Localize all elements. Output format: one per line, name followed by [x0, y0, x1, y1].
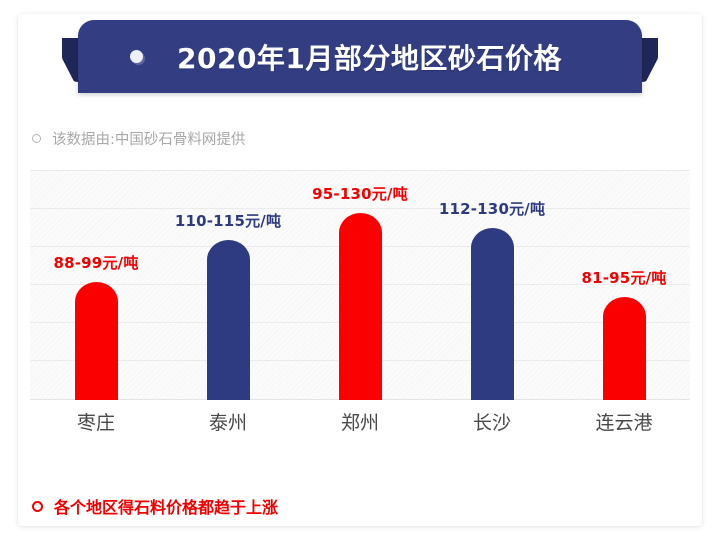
bar-group-0: 88-99元/吨	[30, 170, 162, 400]
bar[interactable]	[339, 213, 382, 400]
footer-note-text: 各个地区得石料价格都趋于上涨	[54, 494, 278, 518]
bar-group-3: 112-130元/吨	[426, 170, 558, 400]
footer-note: 各个地区得石料价格都趋于上涨	[32, 494, 278, 518]
bar-value-label: 88-99元/吨	[53, 252, 138, 273]
bar-value-label: 95-130元/吨	[312, 183, 408, 204]
x-tick-label: 泰州	[162, 408, 294, 435]
bar-value-label: 112-130元/吨	[439, 198, 545, 219]
x-tick-label: 郑州	[294, 408, 426, 435]
x-tick-label: 长沙	[426, 408, 558, 435]
hollow-circle-icon	[32, 134, 41, 143]
bar[interactable]	[603, 297, 646, 400]
banner-body: 2020年1月部分地区砂石价格	[78, 20, 642, 93]
bar-value-label: 110-115元/吨	[175, 210, 281, 231]
chart-page: 2020年1月部分地区砂石价格 该数据由:中国砂石骨料网提供 88-99元/吨 …	[0, 0, 720, 541]
bar-group-2: 95-130元/吨	[294, 170, 426, 400]
bar-group-4: 81-95元/吨	[558, 170, 690, 400]
bar-group-1: 110-115元/吨	[162, 170, 294, 400]
subtitle-text: 该数据由:中国砂石骨料网提供	[52, 128, 245, 149]
bar[interactable]	[75, 282, 118, 400]
bar-value-label: 81-95元/吨	[581, 267, 666, 288]
header-banner: 2020年1月部分地区砂石价格	[62, 20, 658, 100]
bar[interactable]	[471, 228, 514, 400]
subtitle: 该数据由:中国砂石骨料网提供	[32, 128, 245, 149]
page-title: 2020年1月部分地区砂石价格	[177, 37, 562, 77]
x-tick-label: 枣庄	[30, 408, 162, 435]
bar[interactable]	[207, 240, 250, 400]
hollow-circle-icon	[32, 501, 43, 512]
x-tick-label: 连云港	[558, 408, 690, 435]
bar-series: 88-99元/吨 110-115元/吨 95-130元/吨 112-130元/吨…	[30, 170, 690, 400]
filled-circle-icon	[130, 50, 143, 63]
x-axis: 枣庄 泰州 郑州 长沙 连云港	[30, 408, 690, 435]
